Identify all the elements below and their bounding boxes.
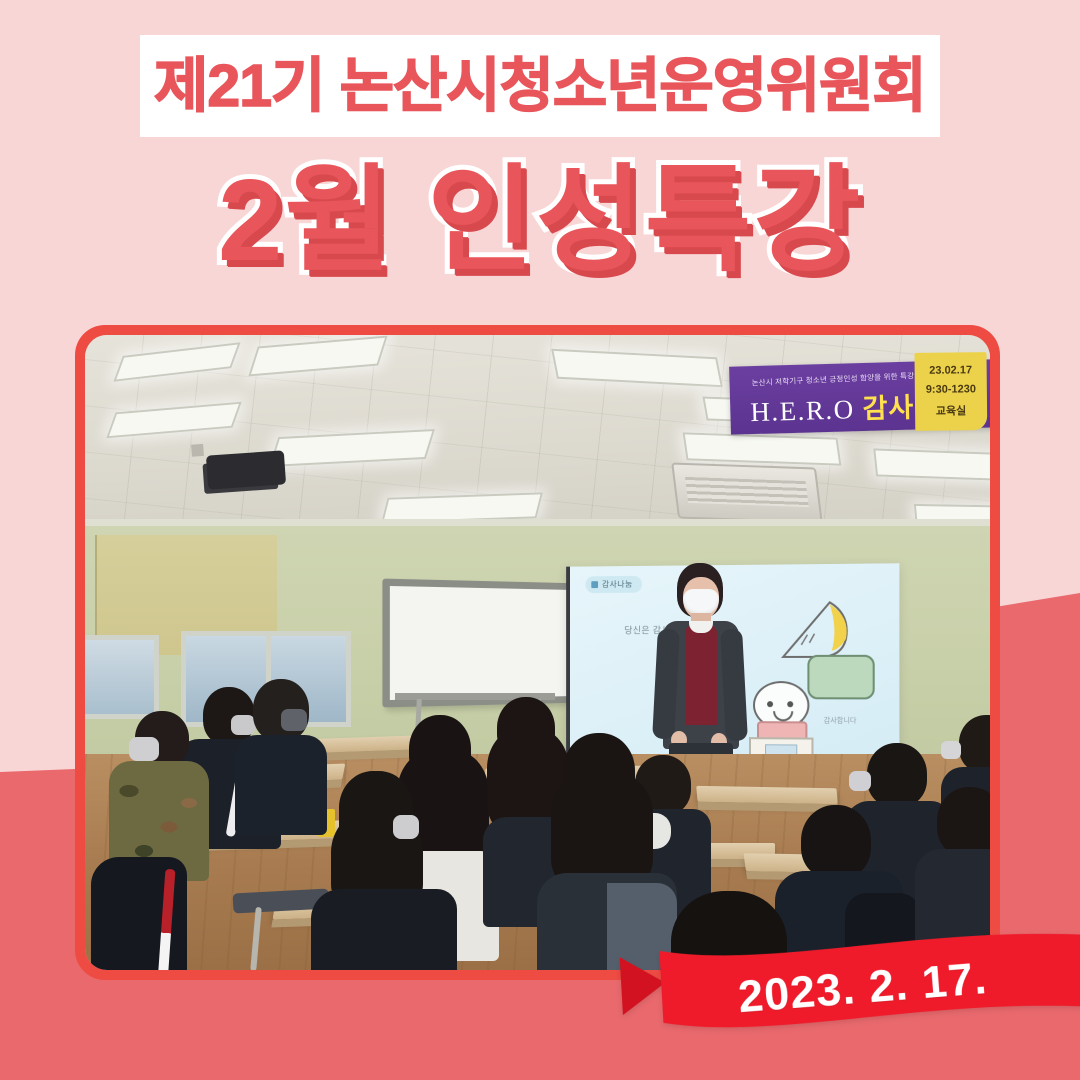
main-title-wrap: 2월 인성특강 [0,150,1080,290]
decor-band-right [995,593,1080,893]
student-hair [551,773,653,889]
poster-canvas: 제21기 논산시청소년운영위원회 2월 인성특강 [0,0,1080,1080]
ceiling-light [873,448,990,481]
slide-tag-label: 감사나눔 [602,580,633,589]
student-face-mask [849,771,871,791]
ceiling-light [683,432,842,465]
wall-banner: 논산시 저학기구 청소년 긍정인성 함양을 위한 특강 H.E.R.O감사나눔 … [729,359,990,434]
slide-tag: 감사나눔 [585,576,642,593]
student-face-mask [129,737,159,761]
instructor-arm [720,629,748,742]
student-face-mask [281,709,307,731]
instructor-sweater [685,625,717,725]
header-title: 제21기 논산시청소년운영위원회 [154,57,926,116]
student-head [937,787,990,857]
window [85,635,159,719]
slide-caption: 감사합니다 [824,715,857,725]
wall-banner-title-en: H.E.R.O [750,394,855,427]
wall-banner-room: 교육실 [936,402,967,418]
desk [696,786,838,804]
air-conditioner-unit [671,463,823,524]
slide-cheese-illustration [779,598,854,661]
photo-frame: 감사나눔 당신은 감사의 의미는 [75,325,1000,980]
wall-banner-date: 23.02.17 [929,364,972,376]
slide-person-illustration [753,673,820,752]
header-banner: 제21기 논산시청소년운영위원회 [140,35,940,137]
slide-tag-icon [591,582,598,589]
student-head [801,805,871,879]
projector [206,450,286,489]
student-head [959,715,990,773]
whiteboard [382,579,574,708]
student [101,711,211,911]
slide-person-eye [767,701,773,707]
slide-person-eye [787,701,793,707]
main-title: 2월 인성특강 [218,162,862,278]
student-hoodie [311,889,457,970]
wall-banner-info-card: 23.02.17 9:30-1230 교육실 [914,352,987,431]
student-face-mask [393,815,419,839]
slide-person-mouth [773,711,793,721]
wall-banner-time: 9:30-1230 [926,383,976,396]
classroom-photo: 감사나눔 당신은 감사의 의미는 [85,335,990,970]
student [309,771,459,970]
